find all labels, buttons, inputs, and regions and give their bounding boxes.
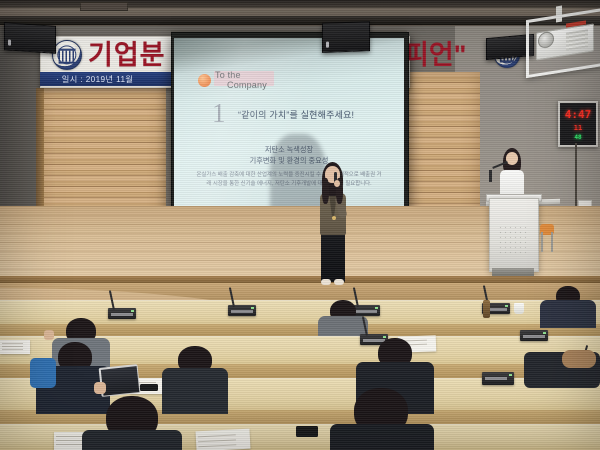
presenter-shoe-right [334, 279, 344, 285]
presenter-hand [334, 180, 340, 187]
banner-title-text-right: 피언" [404, 38, 494, 72]
desk-microphone-unit[interactable] [520, 330, 548, 341]
presenter-button [332, 216, 336, 220]
blue-backpack [30, 358, 56, 388]
coffee-bottle [483, 300, 490, 318]
wall-speaker-left-icon [4, 22, 56, 54]
coat-fur-hood [562, 350, 596, 368]
seal-building-icon [59, 49, 76, 64]
stage-edge [0, 276, 600, 283]
audience-body-front [82, 430, 182, 450]
presenter-legs [321, 232, 345, 282]
podium [489, 198, 539, 272]
presenter-shoe-left [321, 279, 331, 285]
desk-microphone-unit[interactable] [482, 372, 514, 385]
paper-sheet [0, 340, 30, 354]
clock-main-digits: 4:47 [564, 108, 592, 121]
presentation-slide: To the Company 1 “같이의 가치”를 실현해주세요! 저탄소 녹… [174, 38, 404, 224]
ceiling-vent-icon [80, 2, 128, 11]
clock-third-row: 48 [564, 134, 592, 141]
presenter-hair-left [322, 178, 329, 204]
audience-body-front [330, 424, 434, 450]
led-digital-clock: 4:47 11 48 [558, 101, 598, 147]
projection-screen: To the Company 1 “같이의 가치”를 실현해주세요! 저탄소 녹… [174, 38, 404, 224]
stool-leg-right [551, 232, 553, 252]
podium-perforation [498, 225, 530, 255]
audience-body [162, 368, 228, 414]
ceiling-beam [0, 16, 600, 25]
audience-body [540, 300, 596, 328]
podium-base [492, 268, 534, 276]
lecture-hall-photo: 기업분 피언" · 일시 : 2019년 11월 주촌 : 한국경제신문 To … [0, 0, 600, 450]
smartphone[interactable] [296, 426, 318, 437]
projector-vent [566, 29, 588, 50]
paper-sheet [196, 429, 251, 450]
podium-mic-stem [489, 170, 492, 182]
audience-hand [94, 382, 106, 394]
university-seal-icon [52, 40, 82, 70]
paper-cup [514, 303, 524, 314]
mc-head [506, 152, 518, 165]
audience-hand [44, 330, 54, 340]
clock-second-row: 11 [564, 124, 592, 132]
smartphone[interactable] [140, 384, 158, 391]
stool-leg-left [541, 232, 543, 252]
wall-speaker-center-icon [322, 21, 370, 53]
